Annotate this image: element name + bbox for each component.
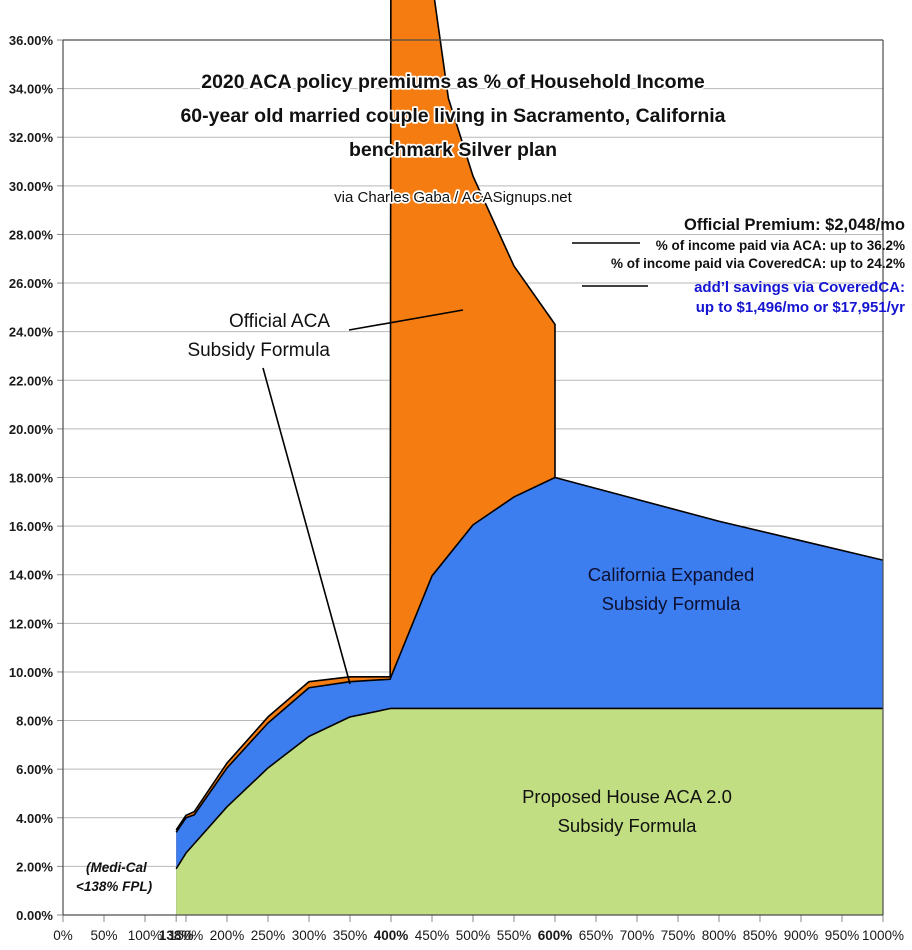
x-tick-label-0: 0% (53, 928, 73, 943)
callout-savings-line-2: up to $1,496/mo or $17,951/yr (696, 299, 905, 316)
y-tick-label-16: 32.00% (9, 130, 54, 145)
x-tick-label-2: 100% (128, 928, 163, 943)
x-tick-label-11: 500% (456, 928, 491, 943)
house-formula-line-2: Subsidy Formula (558, 815, 698, 836)
y-tick-label-6: 12.00% (9, 616, 54, 631)
x-tick-label-18: 850% (743, 928, 778, 943)
x-tick-label-1: 50% (90, 928, 117, 943)
x-tick-label-15: 700% (620, 928, 655, 943)
y-tick-label-17: 34.00% (9, 82, 54, 97)
y-tick-label-1: 2.00% (16, 859, 53, 874)
y-tick-label-4: 8.00% (16, 714, 53, 729)
callout-savings-line-1: add’l savings via CoveredCA: (694, 279, 905, 296)
x-tick-label-9: 400% (374, 928, 409, 943)
x-tick-label-16: 750% (661, 928, 696, 943)
y-tick-label-18: 36.00% (9, 33, 54, 48)
x-tick-marks (63, 915, 883, 922)
title-line-1: 2020 ACA policy premiums as % of Househo… (201, 71, 705, 93)
x-tick-label-12: 550% (497, 928, 532, 943)
x-tick-label-5: 200% (210, 928, 245, 943)
medi-cal-line-1: (Medi-Cal (86, 860, 147, 875)
x-tick-label-14: 650% (579, 928, 614, 943)
y-tick-label-14: 28.00% (9, 227, 54, 242)
ca-formula-line-2: Subsidy Formula (602, 593, 742, 614)
x-tick-label-7: 300% (292, 928, 327, 943)
x-tick-label-19: 900% (784, 928, 819, 943)
aca-formula-line-1: Official ACA (229, 311, 330, 332)
y-tick-label-11: 22.00% (9, 373, 54, 388)
title-line-2: 60-year old married couple living in Sac… (180, 105, 725, 127)
y-tick-marks (57, 40, 63, 915)
y-tick-label-5: 10.00% (9, 665, 54, 680)
y-tick-label-15: 30.00% (9, 179, 54, 194)
y-tick-label-10: 20.00% (9, 422, 54, 437)
medi-cal-line-2: <138% FPL) (76, 879, 153, 894)
ca-formula-line-1: California Expanded (588, 564, 755, 585)
aca-premium-area-chart: 0.00%2.00%4.00%6.00%8.00%10.00%12.00%14.… (0, 0, 912, 950)
y-tick-label-2: 4.00% (16, 811, 53, 826)
x-axis-labels: 0%50%100%138%150%200%250%300%350%400%450… (53, 928, 904, 943)
y-tick-label-12: 24.00% (9, 325, 54, 340)
x-tick-label-4: 150% (169, 928, 204, 943)
y-tick-label-8: 16.00% (9, 519, 54, 534)
x-tick-label-21: 1000% (862, 928, 904, 943)
callout-premium: Official Premium: $2,048/mo (684, 216, 905, 234)
x-tick-label-6: 250% (251, 928, 286, 943)
x-tick-label-8: 350% (333, 928, 368, 943)
callout-aca-share: % of income paid via ACA: up to 36.2% (656, 238, 905, 253)
credit-line: via Charles Gaba / ACASignups.net (334, 189, 572, 206)
house-formula-line-1: Proposed House ACA 2.0 (522, 786, 732, 807)
x-tick-label-10: 450% (415, 928, 450, 943)
x-tick-label-17: 800% (702, 928, 737, 943)
x-tick-label-20: 950% (825, 928, 860, 943)
title-line-3: benchmark Silver plan (349, 139, 557, 161)
y-tick-label-13: 26.00% (9, 276, 54, 291)
chart-page: 0.00%2.00%4.00%6.00%8.00%10.00%12.00%14.… (0, 0, 912, 950)
y-tick-label-3: 6.00% (16, 762, 53, 777)
y-tick-label-9: 18.00% (9, 471, 54, 486)
aca-formula-line-2: Subsidy Formula (187, 340, 330, 361)
callout-ca-share: % of income paid via CoveredCA: up to 24… (611, 256, 905, 271)
x-tick-label-13: 600% (538, 928, 573, 943)
y-axis-labels: 0.00%2.00%4.00%6.00%8.00%10.00%12.00%14.… (9, 33, 54, 923)
y-tick-label-0: 0.00% (16, 908, 53, 923)
y-tick-label-7: 14.00% (9, 568, 54, 583)
